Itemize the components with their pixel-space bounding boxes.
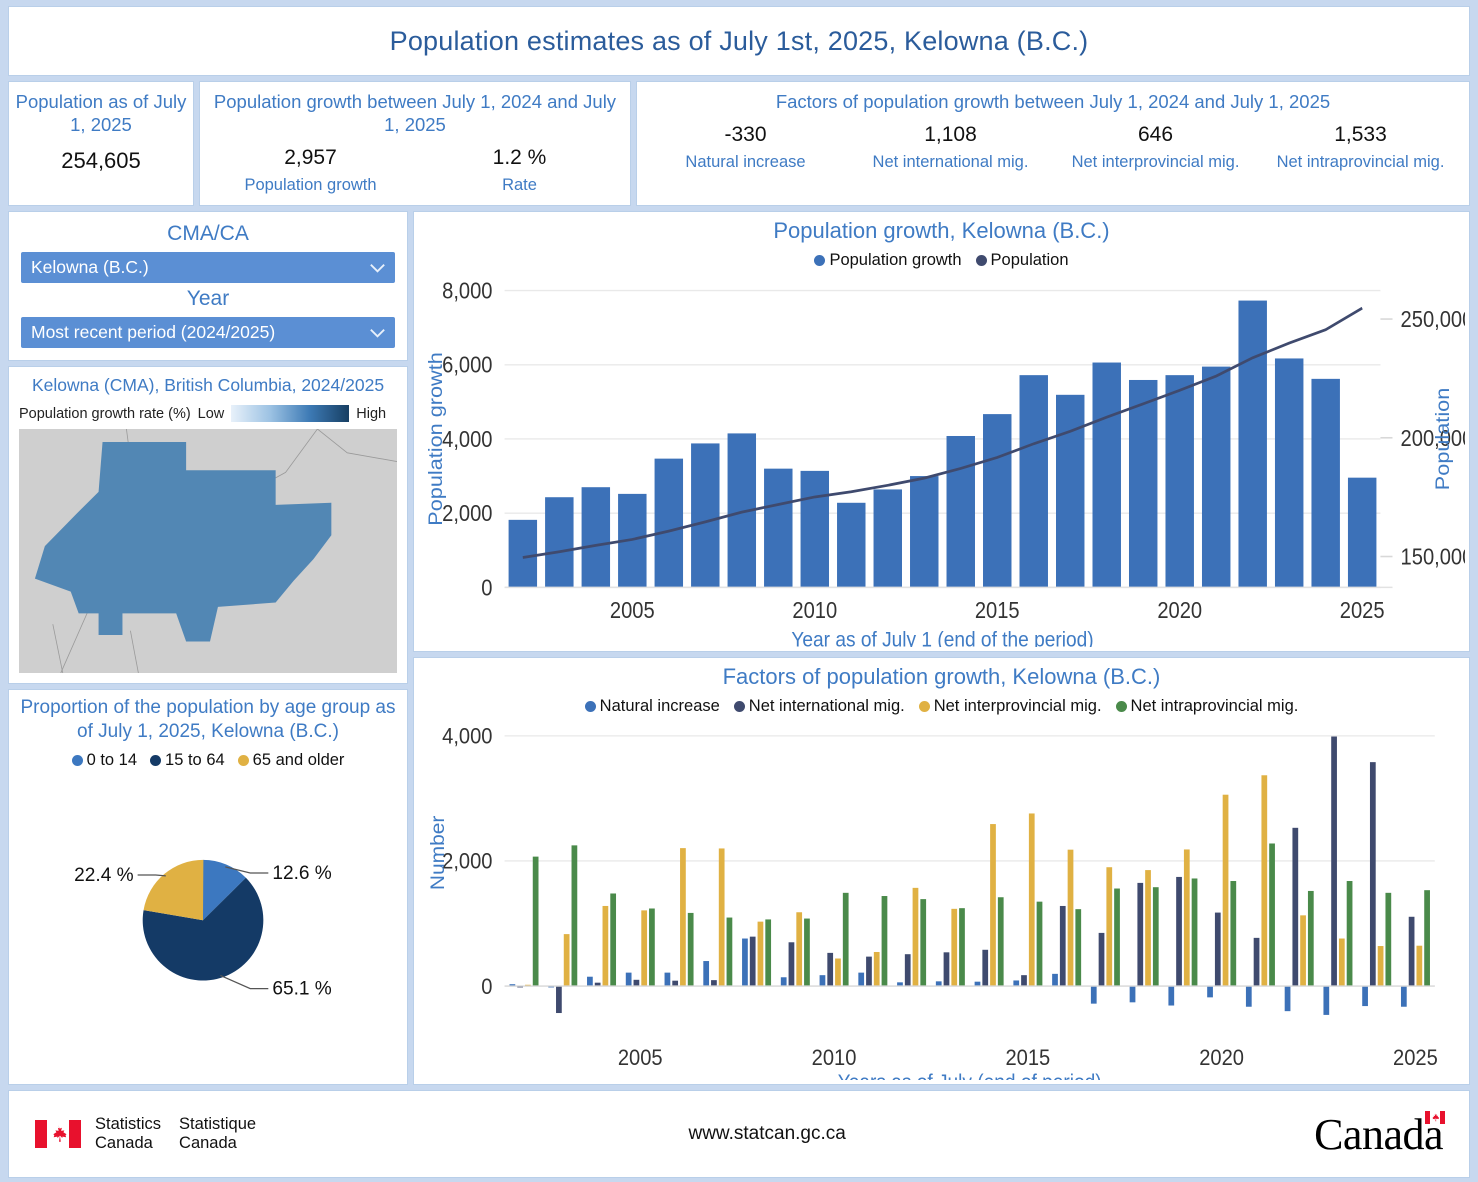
pie-leader-line	[220, 975, 268, 988]
kpi-growth-item: 2,957 Population growth	[206, 145, 415, 195]
bar[interactable]	[820, 975, 826, 986]
canada-wordmark-text: Canada	[1314, 1110, 1443, 1159]
legend-label: Population	[991, 251, 1069, 269]
kpi-net-intraprovincial-label: Net intraprovincial mig.	[1258, 153, 1463, 172]
filters-panel: CMA/CA Kelowna (B.C.) Year Most recent p…	[8, 211, 408, 361]
bar[interactable]	[982, 950, 988, 986]
bar[interactable]	[1130, 986, 1136, 1002]
bar[interactable]	[765, 919, 771, 986]
kpi-net-interprovincial-value: 646	[1053, 122, 1258, 147]
factors-chart-title: Factors of population growth, Kelowna (B…	[418, 664, 1465, 690]
kpi-natural-increase-label: Natural increase	[643, 153, 848, 172]
kpi-population-heading: Population as of July 1, 2025	[15, 90, 187, 136]
pie-value-label: 65.1 %	[272, 978, 331, 999]
bar[interactable]	[1238, 301, 1266, 588]
bar[interactable]	[827, 953, 833, 986]
bar[interactable]	[1323, 986, 1329, 1015]
y-axis-tick-label: 0	[481, 575, 492, 600]
bar[interactable]	[1192, 878, 1198, 986]
legend-item-natural-increase[interactable]: Natural increase	[585, 697, 720, 716]
bar[interactable]	[1215, 912, 1221, 986]
bar[interactable]	[1129, 380, 1157, 587]
bar[interactable]	[626, 972, 632, 985]
population-growth-chart-title: Population growth, Kelowna (B.C.)	[418, 218, 1465, 244]
bar[interactable]	[1052, 974, 1058, 986]
bar[interactable]	[634, 980, 640, 986]
legend-swatch-icon	[72, 755, 83, 766]
kpi-growth-heading: Population growth between July 1, 2024 a…	[206, 90, 624, 136]
bar[interactable]	[545, 497, 573, 587]
bar[interactable]	[1165, 375, 1193, 587]
kpi-net-international-value: 1,108	[848, 122, 1053, 147]
kpi-net-interprovincial: 646 Net interprovincial mig.	[1053, 122, 1258, 172]
bar[interactable]	[1300, 915, 1306, 986]
kpi-rate-value: 1.2 %	[415, 145, 624, 170]
kpi-row: Population as of July 1, 2025 254,605 Po…	[8, 81, 1470, 206]
bar[interactable]	[680, 848, 686, 986]
y2-axis-tick-label: 150,000	[1401, 544, 1465, 569]
map-svg	[19, 429, 397, 673]
bar[interactable]	[572, 845, 578, 986]
bar[interactable]	[843, 893, 849, 986]
bar[interactable]	[649, 908, 655, 986]
bar[interactable]	[564, 934, 570, 986]
bar[interactable]	[719, 848, 725, 986]
bar[interactable]	[1285, 986, 1291, 1011]
x-axis-tick-label: 2010	[812, 1046, 857, 1070]
bar[interactable]	[1037, 901, 1043, 985]
x-axis-tick-label: 2020	[1199, 1046, 1244, 1070]
bar[interactable]	[1261, 775, 1267, 986]
map-canvas[interactable]	[19, 429, 397, 673]
canada-flag-icon	[1425, 1111, 1445, 1124]
bar[interactable]	[1347, 881, 1353, 986]
bar[interactable]	[1153, 887, 1159, 986]
bar[interactable]	[1275, 358, 1303, 587]
bar[interactable]	[703, 961, 709, 986]
bar[interactable]	[1068, 849, 1074, 985]
kpi-net-interprovincial-label: Net interprovincial mig.	[1053, 153, 1258, 172]
legend-label: Net interprovincial mig.	[934, 697, 1102, 715]
bar[interactable]	[947, 436, 975, 587]
bar[interactable]	[1091, 986, 1097, 1004]
footer-url[interactable]: www.statcan.gc.ca	[514, 1123, 1021, 1145]
legend-label: Natural increase	[600, 697, 720, 715]
legend-swatch-icon	[814, 255, 825, 266]
kpi-population-value: 254,605	[15, 148, 187, 174]
pie-legend-item-15-64: 15 to 64	[150, 751, 225, 770]
year-filter-label: Year	[21, 287, 395, 311]
map-legend: Population growth rate (%) Low High	[19, 405, 397, 422]
bar[interactable]	[1114, 888, 1120, 986]
bar[interactable]	[1075, 909, 1081, 986]
kpi-natural-increase-value: -330	[643, 122, 848, 147]
year-dropdown[interactable]: Most recent period (2024/2025)	[21, 317, 395, 348]
bar[interactable]	[944, 952, 950, 986]
map-legend-label: Population growth rate (%)	[19, 406, 191, 422]
bar[interactable]	[1385, 893, 1391, 986]
pie-legend-label: 15 to 64	[165, 751, 225, 769]
legend-item-population[interactable]: Population	[976, 251, 1069, 270]
bar[interactable]	[1137, 883, 1143, 986]
kpi-growth: Population growth between July 1, 2024 a…	[199, 81, 631, 206]
chevron-down-icon	[369, 263, 386, 273]
kpi-factors-heading: Factors of population growth between Jul…	[643, 90, 1463, 113]
bar[interactable]	[801, 471, 829, 588]
canada-wordmark: Canada	[1021, 1109, 1443, 1160]
bar[interactable]	[1246, 986, 1252, 1007]
right-column: Population growth, Kelowna (B.C.) Popula…	[413, 211, 1470, 1085]
bar[interactable]	[874, 489, 902, 587]
pie-title: Proportion of the population by age grou…	[17, 696, 399, 744]
bar[interactable]	[959, 908, 965, 986]
map-panel: Kelowna (CMA), British Columbia, 2024/20…	[8, 366, 408, 684]
bar[interactable]	[913, 888, 919, 986]
kpi-net-international: 1,108 Net international mig.	[848, 122, 1053, 172]
legend-swatch-icon	[919, 701, 930, 712]
bar[interactable]	[866, 956, 872, 985]
bar[interactable]	[1409, 917, 1415, 986]
chevron-down-icon	[369, 328, 386, 338]
bar[interactable]	[983, 414, 1011, 587]
legend-swatch-icon	[1116, 701, 1127, 712]
y-axis-tick-label: 2,000	[442, 501, 492, 526]
y-axis-tick-label: 4,000	[442, 427, 492, 452]
pie-panel: Proportion of the population by age grou…	[8, 689, 408, 1085]
bar[interactable]	[603, 906, 609, 986]
x-axis-tick-label: 2025	[1393, 1046, 1438, 1070]
pie-value-label: 12.6 %	[272, 863, 331, 884]
legend-item-net-international[interactable]: Net international mig.	[734, 697, 905, 716]
factors-chart-legend: Natural increase Net international mig. …	[418, 697, 1465, 716]
bar[interactable]	[858, 972, 864, 985]
bar[interactable]	[750, 936, 756, 985]
bar[interactable]	[1099, 933, 1105, 986]
bar[interactable]	[1339, 938, 1345, 986]
y-axis-tick-label: 2,000	[442, 850, 492, 874]
legend-label: Net international mig.	[749, 697, 905, 715]
bar[interactable]	[1292, 828, 1298, 986]
legend-label: Net intraprovincial mig.	[1131, 697, 1299, 715]
page-title: Population estimates as of July 1st, 202…	[390, 26, 1089, 57]
bar[interactable]	[1331, 736, 1337, 986]
bar[interactable]	[691, 443, 719, 587]
bar[interactable]	[672, 980, 678, 985]
pie-legend-item-0-14: 0 to 14	[72, 751, 137, 770]
kpi-population: Population as of July 1, 2025 254,605	[8, 81, 194, 206]
bar[interactable]	[1311, 379, 1339, 588]
bar[interactable]	[582, 487, 610, 587]
pie-slice[interactable]	[144, 859, 204, 919]
bar[interactable]	[1207, 986, 1213, 997]
x-axis-tick-label: 2015	[1005, 1046, 1050, 1070]
bar[interactable]	[874, 952, 880, 986]
bar[interactable]	[1202, 367, 1230, 588]
bar[interactable]	[610, 893, 616, 986]
x-axis-tick-label: 2020	[1157, 598, 1202, 623]
bar[interactable]	[1370, 762, 1376, 986]
footer: StatisticsCanada StatistiqueCanada www.s…	[8, 1090, 1470, 1178]
population-growth-chart-legend: Population growth Population	[418, 251, 1465, 270]
bar[interactable]	[1184, 849, 1190, 986]
y-axis-title: Population growth	[425, 352, 447, 526]
bar[interactable]	[533, 856, 539, 985]
bar[interactable]	[688, 913, 694, 986]
bar[interactable]	[1176, 877, 1182, 986]
legend-item-population-growth[interactable]: Population growth	[814, 251, 961, 270]
kpi-factors-values: -330 Natural increase 1,108 Net internat…	[643, 122, 1463, 172]
bar[interactable]	[789, 942, 795, 986]
x-axis-tick-label: 2015	[975, 598, 1020, 623]
x-axis-tick-label: 2005	[618, 1046, 663, 1070]
factors-chart-panel: Factors of population growth, Kelowna (B…	[413, 657, 1470, 1085]
legend-item-net-intraprovincial[interactable]: Net intraprovincial mig.	[1116, 697, 1299, 716]
dashboard-root: Population estimates as of July 1st, 202…	[0, 0, 1478, 1182]
map-legend-low: Low	[198, 406, 225, 422]
kpi-growth-label: Population growth	[206, 176, 415, 195]
factors-chart-canvas[interactable]: 02,0004,00020052010201520202025Years as …	[418, 716, 1465, 1080]
map-color-ramp	[231, 405, 349, 422]
kpi-natural-increase: -330 Natural increase	[643, 122, 848, 172]
kpi-net-intraprovincial: 1,533 Net intraprovincial mig.	[1258, 122, 1463, 172]
bar[interactable]	[882, 896, 888, 986]
cma-dropdown[interactable]: Kelowna (B.C.)	[21, 252, 395, 283]
x-axis-title: Year as of July 1 (end of the period)	[791, 628, 1093, 647]
bar[interactable]	[1013, 980, 1019, 986]
pie-svg[interactable]: 12.6 %65.1 %22.4 %	[17, 770, 399, 1077]
bar[interactable]	[1106, 867, 1112, 986]
bar[interactable]	[1020, 375, 1048, 587]
kpi-rate-label: Rate	[415, 176, 624, 195]
statcan-wordmark-fr: StatistiqueCanada	[179, 1115, 256, 1154]
bar[interactable]	[711, 980, 717, 986]
dashboard-body: CMA/CA Kelowna (B.C.) Year Most recent p…	[8, 211, 1470, 1085]
kpi-net-international-label: Net international mig.	[848, 153, 1053, 172]
legend-swatch-icon	[238, 755, 249, 766]
legend-swatch-icon	[150, 755, 161, 766]
x-axis-tick-label: 2005	[610, 598, 655, 623]
bar[interactable]	[1362, 986, 1368, 1006]
cma-filter-label: CMA/CA	[21, 222, 395, 246]
kpi-growth-values: 2,957 Population growth 1.2 % Rate	[206, 145, 624, 195]
map-legend-high: High	[356, 406, 386, 422]
pie-canvas: 12.6 %65.1 %22.4 %	[17, 770, 399, 1077]
map-title: Kelowna (CMA), British Columbia, 2024/20…	[19, 375, 397, 396]
bar[interactable]	[796, 912, 802, 986]
x-axis-tick-label: 2010	[792, 598, 837, 623]
bar[interactable]	[1092, 363, 1120, 588]
bar[interactable]	[905, 954, 911, 986]
bar[interactable]	[665, 972, 671, 985]
statcan-wordmark: StatisticsCanada StatistiqueCanada	[95, 1115, 256, 1154]
left-column: CMA/CA Kelowna (B.C.) Year Most recent p…	[8, 211, 408, 1085]
footer-brand: StatisticsCanada StatistiqueCanada	[35, 1115, 514, 1154]
bar[interactable]	[1424, 890, 1430, 986]
bar[interactable]	[1269, 843, 1275, 986]
pie-legend-label: 65 and older	[253, 751, 345, 769]
legend-item-net-interprovincial[interactable]: Net interprovincial mig.	[919, 697, 1102, 716]
bar[interactable]	[951, 909, 957, 986]
bar[interactable]	[758, 921, 764, 985]
bar[interactable]	[1348, 478, 1376, 588]
kpi-factors: Factors of population growth between Jul…	[636, 81, 1470, 206]
bar[interactable]	[1168, 986, 1174, 1005]
canada-flag-icon	[35, 1120, 81, 1148]
y-axis-tick-label: 4,000	[442, 725, 492, 749]
bar[interactable]	[781, 977, 787, 986]
bar[interactable]	[910, 476, 938, 587]
bar[interactable]	[655, 459, 683, 588]
bar[interactable]	[998, 897, 1004, 986]
bar[interactable]	[641, 910, 647, 986]
y-axis-tick-label: 6,000	[442, 353, 492, 378]
bar[interactable]	[835, 958, 841, 985]
bar[interactable]	[1378, 946, 1384, 986]
bar[interactable]	[556, 986, 562, 1013]
legend-label: Population growth	[829, 251, 961, 269]
factors-chart-svg: 02,0004,00020052010201520202025Years as …	[418, 716, 1465, 1080]
bar[interactable]	[509, 520, 537, 588]
bar[interactable]	[1308, 891, 1314, 986]
legend-swatch-icon	[585, 701, 596, 712]
x-axis-tick-label: 2025	[1340, 598, 1385, 623]
pie-leader-line	[138, 874, 166, 875]
bar[interactable]	[1254, 938, 1260, 986]
bar[interactable]	[1060, 906, 1066, 986]
bar[interactable]	[837, 503, 865, 588]
statcan-wordmark-en: StatisticsCanada	[95, 1115, 161, 1154]
pie-legend: 0 to 14 15 to 64 65 and older	[17, 751, 399, 770]
y-axis-title: Number	[428, 815, 449, 890]
population-growth-chart-svg: 02,0004,0006,0008,000150,000200,000250,0…	[418, 270, 1465, 647]
kpi-rate-item: 1.2 % Rate	[415, 145, 624, 195]
kelowna-cma-region[interactable]	[35, 442, 331, 642]
bar[interactable]	[990, 824, 996, 986]
pie-legend-item-65-older: 65 and older	[238, 751, 345, 770]
legend-swatch-icon	[734, 701, 745, 712]
bar[interactable]	[1416, 945, 1422, 985]
population-growth-chart-canvas[interactable]: 02,0004,0006,0008,000150,000200,000250,0…	[418, 270, 1465, 647]
bar[interactable]	[1223, 794, 1229, 985]
x-axis-title: Years as of July (end of period)	[838, 1071, 1102, 1080]
bar[interactable]	[1401, 986, 1407, 1007]
bar[interactable]	[587, 976, 593, 985]
bar[interactable]	[1021, 975, 1027, 986]
pie-legend-label: 0 to 14	[87, 751, 137, 769]
population-line[interactable]	[523, 308, 1362, 557]
bar[interactable]	[1029, 813, 1035, 986]
bar[interactable]	[804, 918, 810, 986]
legend-swatch-icon	[976, 255, 987, 266]
y2-axis-title: Population	[1432, 388, 1454, 490]
bar[interactable]	[727, 917, 733, 986]
bar[interactable]	[936, 981, 942, 986]
year-dropdown-value: Most recent period (2024/2025)	[31, 322, 275, 343]
population-growth-chart-panel: Population growth, Kelowna (B.C.) Popula…	[413, 211, 1470, 652]
bar[interactable]	[1230, 881, 1236, 986]
y2-axis-tick-label: 250,000	[1401, 307, 1465, 332]
page-title-panel: Population estimates as of July 1st, 202…	[8, 6, 1470, 76]
y-axis-tick-label: 0	[481, 975, 492, 999]
bar[interactable]	[1145, 870, 1151, 986]
pie-value-label: 22.4 %	[74, 865, 133, 886]
bar[interactable]	[920, 899, 926, 986]
bar[interactable]	[742, 938, 748, 986]
bar[interactable]	[764, 469, 792, 588]
y-axis-tick-label: 8,000	[442, 278, 492, 303]
cma-dropdown-value: Kelowna (B.C.)	[31, 257, 149, 278]
kpi-growth-value: 2,957	[206, 145, 415, 170]
bar[interactable]	[1056, 395, 1084, 588]
kpi-net-intraprovincial-value: 1,533	[1258, 122, 1463, 147]
